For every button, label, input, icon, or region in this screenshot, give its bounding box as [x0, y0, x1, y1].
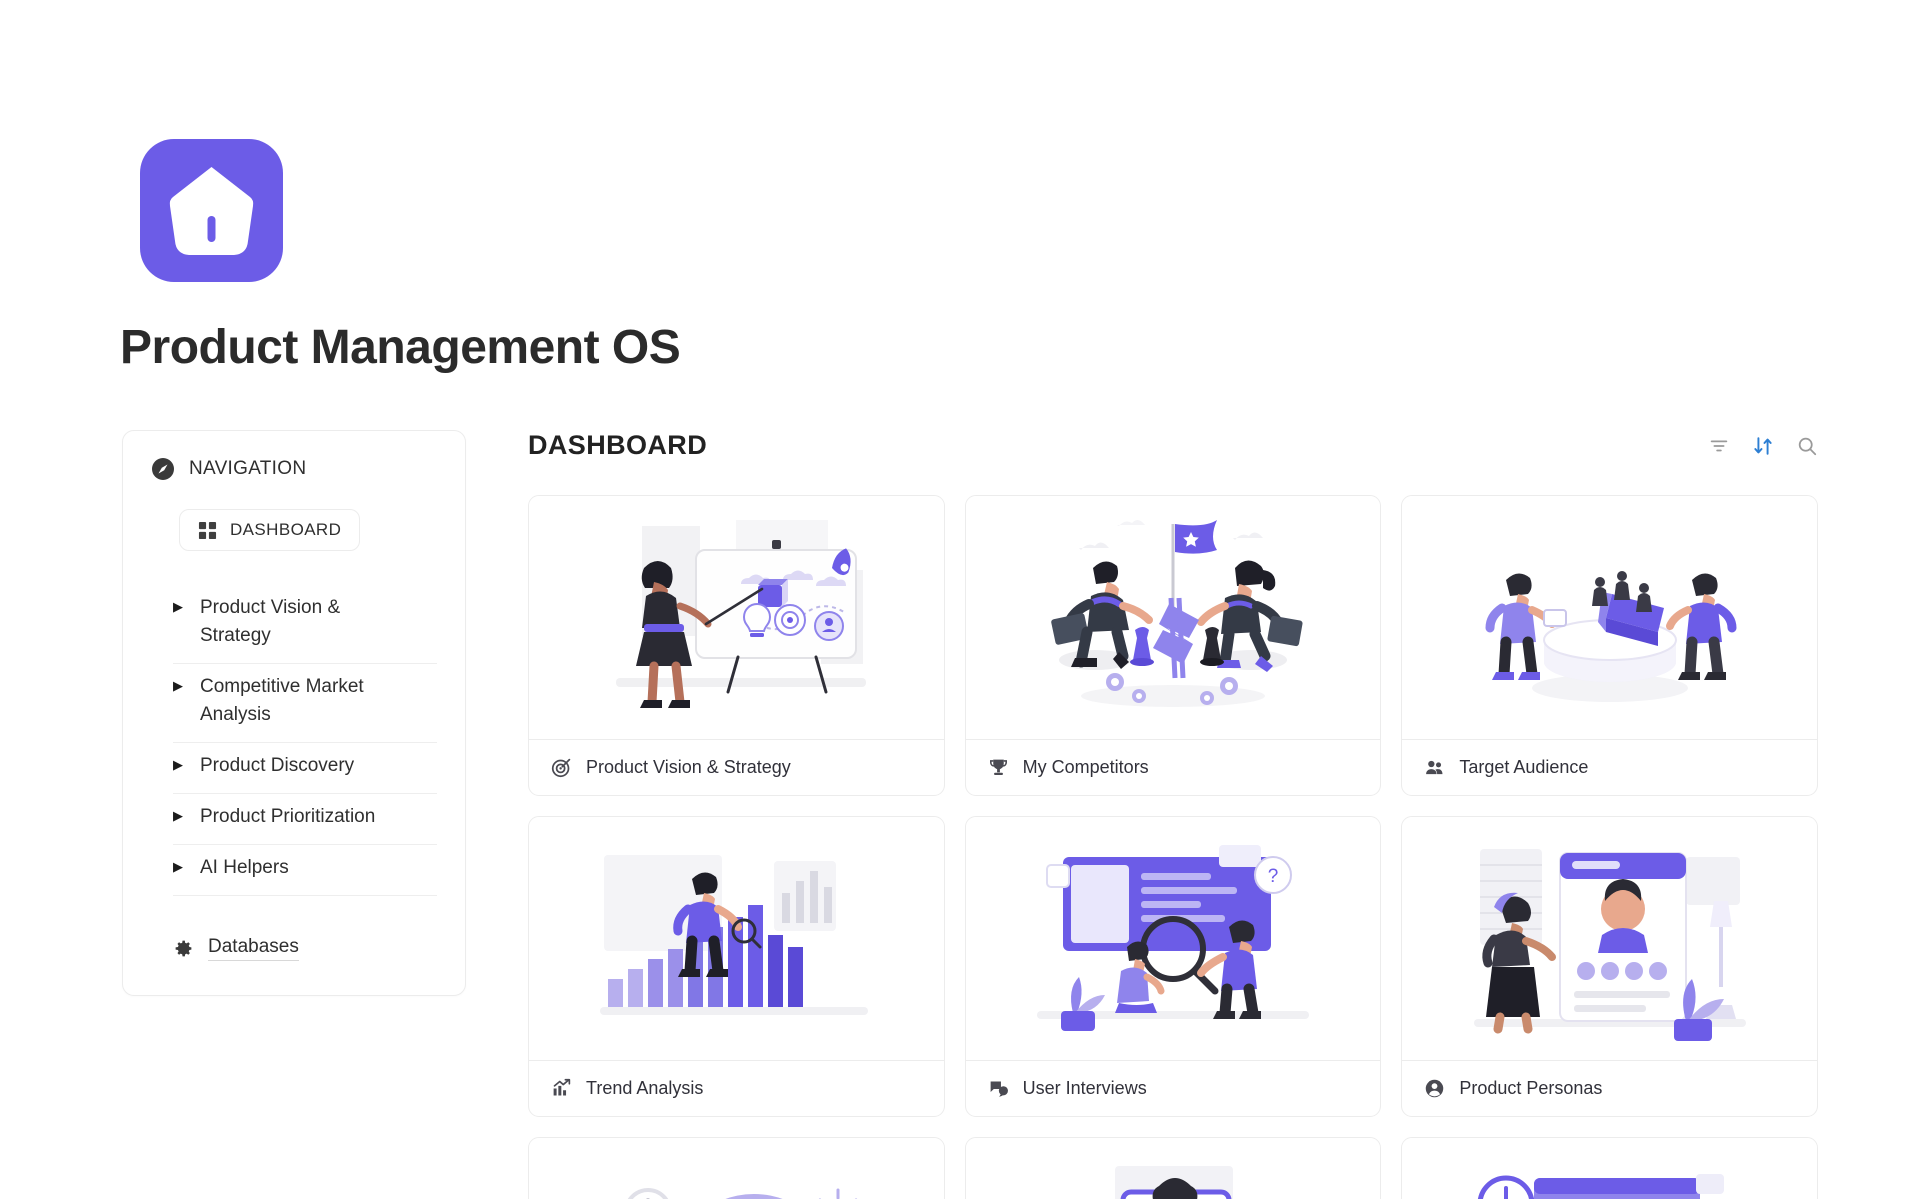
- app-logo: [140, 139, 283, 282]
- dashboard-card[interactable]: [965, 1137, 1382, 1199]
- sidebar-item-dashboard[interactable]: DASHBOARD: [179, 509, 360, 551]
- page-root: Product Management OS NAVIGATION DASHBOA…: [0, 0, 1920, 1199]
- card-illustration-presentation-board: [529, 496, 944, 739]
- card-footer: Trend Analysis: [529, 1060, 944, 1116]
- card-footer: Target Audience: [1402, 739, 1817, 795]
- filter-icon[interactable]: [1708, 435, 1730, 457]
- card-label: Target Audience: [1459, 757, 1588, 778]
- people-icon: [1424, 757, 1445, 778]
- compass-icon: [151, 457, 175, 481]
- house-logo-icon: [164, 161, 259, 261]
- speech-bubbles-icon: [988, 1078, 1009, 1099]
- target-icon: [551, 757, 572, 778]
- card-footer: User Interviews: [966, 1060, 1381, 1116]
- sidebar-header: NAVIGATION: [151, 457, 437, 481]
- dashboard-card[interactable]: Product Personas: [1401, 816, 1818, 1117]
- sidebar-item-label: AI Helpers: [200, 854, 289, 882]
- sidebar-item-product-discovery[interactable]: ▶ Product Discovery: [173, 743, 437, 794]
- card-illustration-maze-question: ?: [529, 1138, 944, 1199]
- card-illustration-checklist-team: [966, 1138, 1381, 1199]
- card-footer: Product Vision & Strategy: [529, 739, 944, 795]
- card-label: Product Personas: [1459, 1078, 1602, 1099]
- card-label: Trend Analysis: [586, 1078, 703, 1099]
- dashboard-card[interactable]: ?: [528, 1137, 945, 1199]
- sidebar: NAVIGATION DASHBOARD ▶ Product Vision & …: [122, 430, 466, 996]
- sidebar-header-label: NAVIGATION: [189, 458, 306, 480]
- dashboard-card[interactable]: [1401, 1137, 1818, 1199]
- search-icon[interactable]: [1796, 435, 1818, 457]
- sort-icon[interactable]: [1752, 435, 1774, 457]
- sidebar-item-ai-helpers[interactable]: ▶ AI Helpers: [173, 845, 437, 896]
- sidebar-item-label: Product Vision & Strategy: [200, 594, 410, 650]
- chevron-right-icon[interactable]: ▶: [173, 673, 183, 699]
- main-title: DASHBOARD: [528, 430, 707, 461]
- chevron-right-icon[interactable]: ▶: [173, 752, 183, 778]
- card-footer: My Competitors: [966, 739, 1381, 795]
- gear-icon: [173, 938, 194, 959]
- sidebar-item-databases[interactable]: Databases: [173, 936, 437, 961]
- account-circle-icon: [1424, 1078, 1445, 1099]
- card-illustration-persona-profile: [1402, 817, 1817, 1060]
- dashboard-card-grid: Product Vision & Strategy: [528, 495, 1818, 1199]
- sidebar-item-competitive-market-analysis[interactable]: ▶ Competitive Market Analysis: [173, 664, 437, 743]
- sidebar-nav-list: ▶ Product Vision & Strategy ▶ Competitiv…: [173, 585, 437, 896]
- dashboard-card[interactable]: Product Vision & Strategy: [528, 495, 945, 796]
- card-illustration-growth-chart: [529, 817, 944, 1060]
- sidebar-item-label: Competitive Market Analysis: [200, 673, 410, 729]
- sidebar-item-databases-label: Databases: [208, 936, 299, 961]
- card-label: My Competitors: [1023, 757, 1149, 778]
- dashboard-card[interactable]: Trend Analysis: [528, 816, 945, 1117]
- dashboard-card[interactable]: Target Audience: [1401, 495, 1818, 796]
- main-toolbar: [1708, 435, 1818, 457]
- main-header: DASHBOARD: [528, 430, 1818, 461]
- card-label: User Interviews: [1023, 1078, 1147, 1099]
- sidebar-item-dashboard-label: DASHBOARD: [230, 520, 341, 540]
- sidebar-item-product-vision-strategy[interactable]: ▶ Product Vision & Strategy: [173, 585, 437, 664]
- card-label: Product Vision & Strategy: [586, 757, 791, 778]
- card-footer: Product Personas: [1402, 1060, 1817, 1116]
- svg-text:?: ?: [1268, 866, 1279, 887]
- card-illustration-interview-search: ?: [966, 817, 1381, 1060]
- card-illustration-competition-flag: [966, 496, 1381, 739]
- card-illustration-audience-podium: [1402, 496, 1817, 739]
- chevron-right-icon[interactable]: ▶: [173, 594, 183, 620]
- chart-up-icon: [551, 1078, 572, 1099]
- chevron-right-icon[interactable]: ▶: [173, 803, 183, 829]
- sidebar-item-label: Product Prioritization: [200, 803, 375, 831]
- dashboard-card[interactable]: My Competitors: [965, 495, 1382, 796]
- page-title: Product Management OS: [120, 320, 680, 375]
- main-content: DASHBOARD: [528, 430, 1818, 1199]
- sidebar-item-product-prioritization[interactable]: ▶ Product Prioritization: [173, 794, 437, 845]
- trophy-icon: [988, 757, 1009, 778]
- card-illustration-kanban-board: [1402, 1138, 1817, 1199]
- grid-icon: [198, 521, 217, 540]
- sidebar-item-label: Product Discovery: [200, 752, 354, 780]
- dashboard-card[interactable]: ?: [965, 816, 1382, 1117]
- chevron-right-icon[interactable]: ▶: [173, 854, 183, 880]
